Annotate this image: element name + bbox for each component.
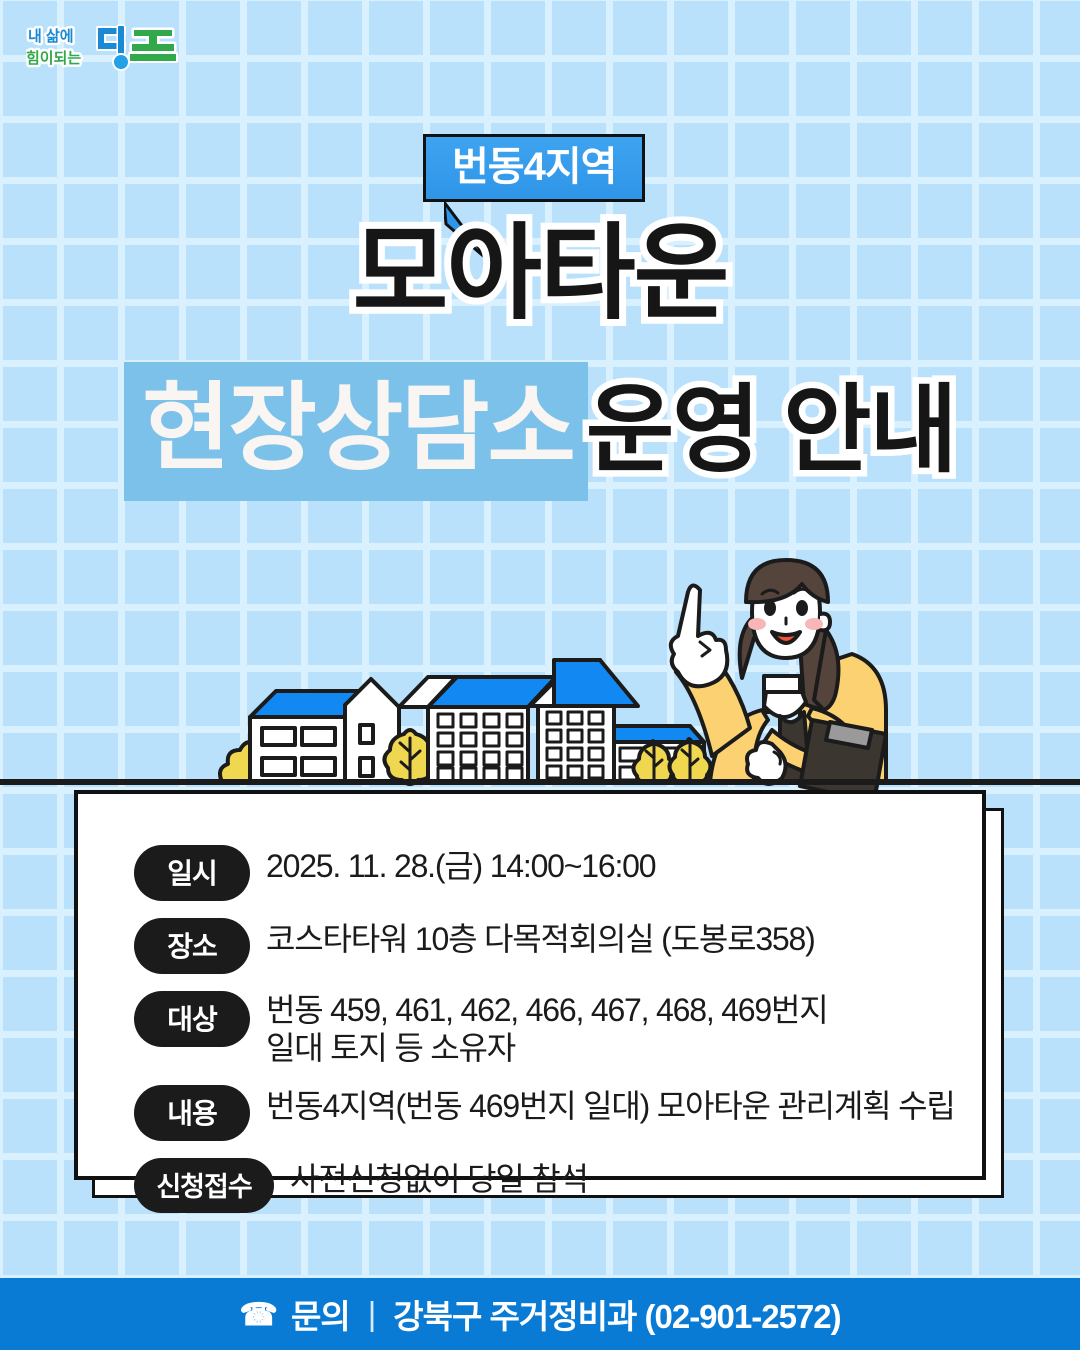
info-row-place: 장소 코스타타워 10층 다목적회의실 (도봉로358): [134, 915, 982, 974]
telephone-icon: ☎: [239, 1299, 277, 1330]
page-title-highlight: 현장상담소: [124, 362, 588, 501]
info-value-date: 2025. 11. 28.(금) 14:00~16:00: [266, 842, 655, 887]
info-row-date: 일시 2025. 11. 28.(금) 14:00~16:00: [134, 842, 982, 901]
info-row-content: 내용 번동4지역(번동 469번지 일대) 모아타운 관리계획 수립: [134, 1082, 982, 1141]
info-value-content: 번동4지역(번동 469번지 일대) 모아타운 관리계획 수립: [266, 1082, 955, 1127]
footer-contact-bar: ☎ 문의 | 강북구 주거정비과 (02-901-2572): [0, 1278, 1080, 1350]
info-value-place: 코스타타워 10층 다목적회의실 (도봉로358): [266, 915, 815, 960]
city-illustration: [0, 520, 1080, 810]
info-value-application: 사전신청없이 당일 참석: [290, 1155, 588, 1200]
info-chip-date: 일시: [134, 845, 250, 901]
footer-separator: |: [364, 1295, 380, 1333]
gangbuk-gu-logo: 내 삶에 내 삶에 힘이되는 힘이되는: [26, 22, 186, 78]
region-badge-label: 번동4지역: [423, 134, 645, 202]
region-badge: 번동4지역: [423, 134, 645, 202]
page-title-rest: 운영 안내: [582, 370, 956, 493]
info-chip-target: 대상: [134, 991, 250, 1047]
page-title-line1: 모아타운: [0, 222, 1080, 326]
info-chip-application: 신청접수: [134, 1158, 274, 1213]
svg-text:힘이되는: 힘이되는: [26, 50, 81, 67]
page-title-line2: 현장상담소 운영 안내: [0, 362, 1080, 501]
footer-inquiry-label: 문의: [291, 1290, 350, 1338]
info-row-application: 신청접수 사전신청없이 당일 참석: [134, 1155, 982, 1213]
svg-text:내 삶에: 내 삶에: [28, 28, 74, 45]
info-chip-place: 장소: [134, 918, 250, 974]
poster-canvas: 내 삶에 내 삶에 힘이되는 힘이되는: [0, 0, 1080, 1350]
info-chip-content: 내용: [134, 1085, 250, 1141]
footer-contact-text: 강북구 주거정비과 (02-901-2572): [393, 1290, 840, 1338]
info-card: 일시 2025. 11. 28.(금) 14:00~16:00 장소 코스타타워…: [74, 790, 986, 1180]
info-row-target: 대상 번동 459, 461, 462, 466, 467, 468, 469번…: [134, 988, 982, 1068]
info-value-target: 번동 459, 461, 462, 466, 467, 468, 469번지 일…: [266, 988, 827, 1068]
